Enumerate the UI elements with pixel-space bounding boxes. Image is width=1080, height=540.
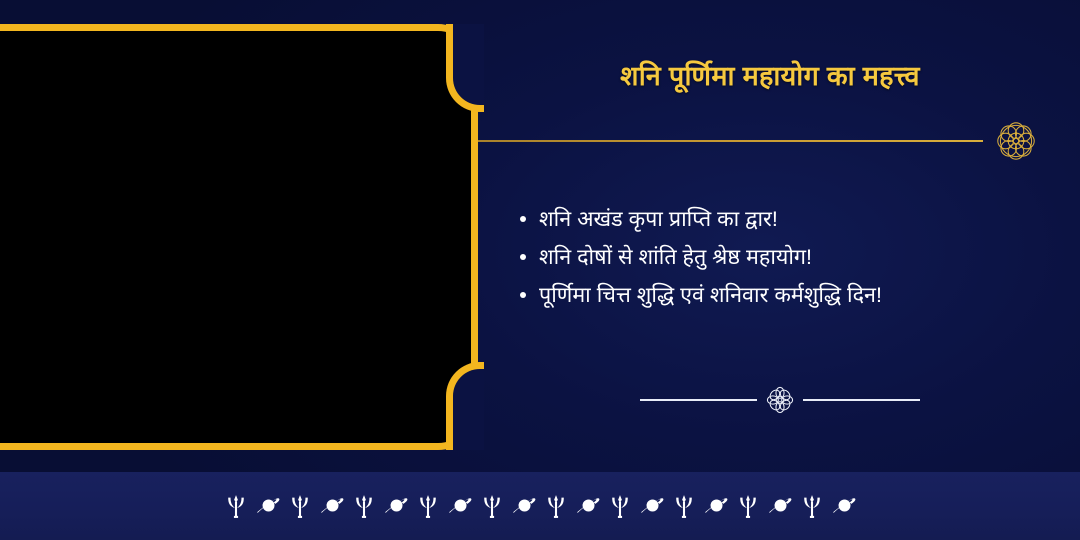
saturn-icon xyxy=(703,493,729,519)
trident-icon xyxy=(223,493,249,519)
photo-gold-frame xyxy=(0,24,478,450)
divider-line-right xyxy=(803,399,920,401)
saturn-icon xyxy=(767,493,793,519)
divider-line-left xyxy=(640,399,757,401)
title-divider-line xyxy=(478,140,983,142)
trident-icon xyxy=(671,493,697,519)
shani-purnima-banner: शनि पूर्णिमा महायोग का महत्त्व शनि अखंड … xyxy=(0,0,1080,540)
list-item: शनि दोषों से शांति हेतु श्रेष्ठ महायोग! xyxy=(520,238,1060,276)
trident-icon xyxy=(351,493,377,519)
saturn-icon xyxy=(575,493,601,519)
bullet-dot-icon xyxy=(520,216,526,222)
footer-glyph-strip xyxy=(0,472,1080,540)
list-item-label: शनि दोषों से शांति हेतु श्रेष्ठ महायोग! xyxy=(539,238,812,276)
saturn-icon xyxy=(319,493,345,519)
trident-icon xyxy=(543,493,569,519)
page-title: शनि पूर्णिमा महायोग का महत्त्व xyxy=(505,60,1035,92)
benefits-list: शनि अखंड कृपा प्राप्ति का द्वार! शनि दोष… xyxy=(520,200,1060,314)
trident-icon xyxy=(799,493,825,519)
list-item-label: शनि अखंड कृपा प्राप्ति का द्वार! xyxy=(539,200,778,238)
saturn-icon xyxy=(447,493,473,519)
list-item: पूर्णिमा चित्त शुद्धि एवं शनिवार कर्मशुद… xyxy=(520,276,1060,314)
saturn-icon xyxy=(831,493,857,519)
list-item-label: पूर्णिमा चित्त शुद्धि एवं शनिवार कर्मशुद… xyxy=(539,276,882,314)
saturn-icon xyxy=(255,493,281,519)
trident-icon xyxy=(735,493,761,519)
flower-ornament-icon xyxy=(763,383,797,417)
list-item: शनि अखंड कृपा प्राप्ति का द्वार! xyxy=(520,200,1060,238)
trident-icon xyxy=(287,493,313,519)
frame-step-bottom-right xyxy=(446,362,484,450)
bullet-dot-icon xyxy=(520,292,526,298)
trident-icon xyxy=(607,493,633,519)
bullet-dot-icon xyxy=(520,254,526,260)
rosette-mandala-icon xyxy=(990,115,1042,167)
saturn-icon xyxy=(511,493,537,519)
saturn-icon xyxy=(383,493,409,519)
trident-icon xyxy=(415,493,441,519)
section-divider xyxy=(640,382,920,418)
saturn-icon xyxy=(639,493,665,519)
trident-icon xyxy=(479,493,505,519)
